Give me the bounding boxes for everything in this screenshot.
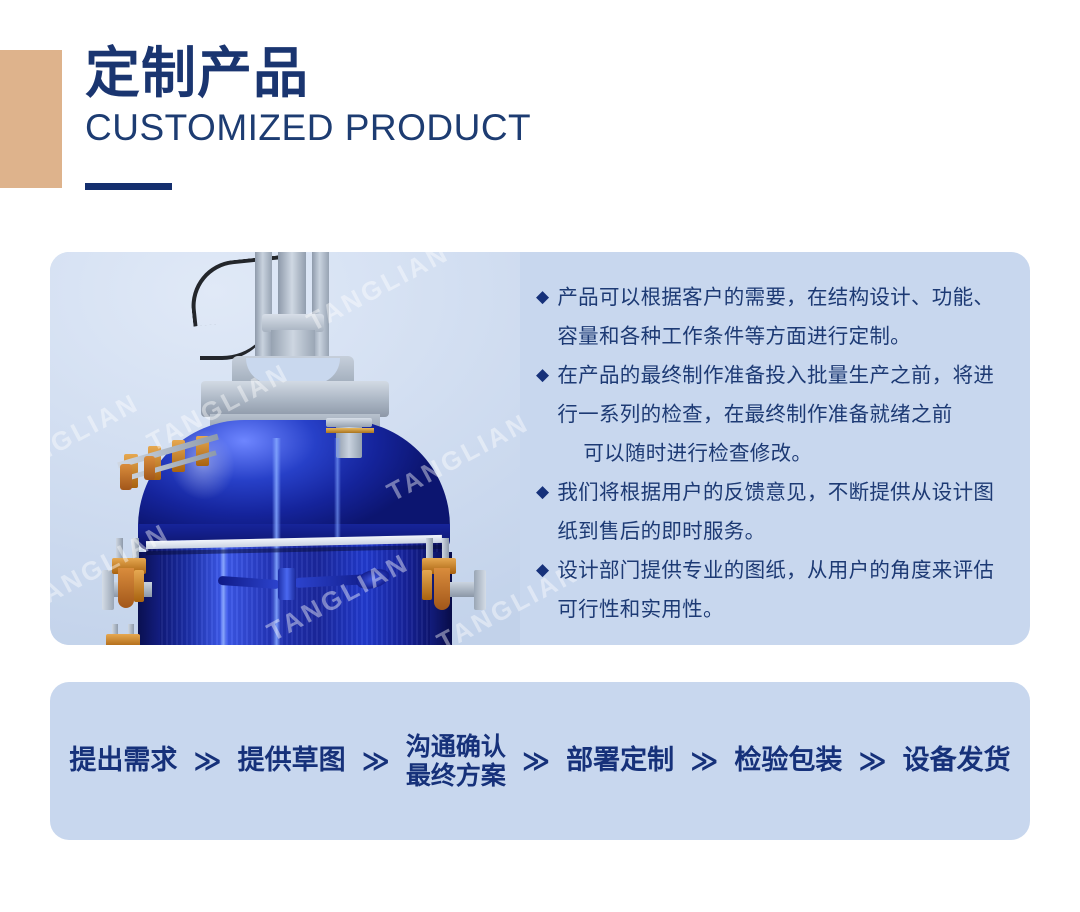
feature-line: 产品可以根据客户的需要，在结构设计、功能、 [557, 278, 1004, 317]
page-title-en: CUSTOMIZED PRODUCT [85, 109, 531, 148]
feature-item: ◆ 我们将根据用户的反馈意见，不断提供从设计图 纸到售后的即时服务。 [536, 473, 1004, 551]
feature-line: 我们将根据用户的反馈意见，不断提供从设计图 [557, 473, 1004, 512]
process-arrow-icon: ≫ [683, 746, 725, 777]
feature-list: ◆ 产品可以根据客户的需要，在结构设计、功能、 容量和各种工作条件等方面进行定制… [520, 252, 1030, 645]
vessel-highlight-3 [334, 438, 341, 538]
process-step-2[interactable]: 提供草图 [229, 745, 355, 777]
clamp-right [416, 538, 470, 612]
support-column-left [255, 252, 272, 370]
process-step-6[interactable]: 设备发货 [894, 745, 1020, 777]
process-arrow-icon: ≫ [355, 746, 397, 777]
feature-item: ◆ 产品可以根据客户的需要，在结构设计、功能、 容量和各种工作条件等方面进行定制… [536, 278, 1004, 356]
bullet-diamond-icon: ◆ [536, 356, 549, 395]
clamp-cluster-top [108, 424, 238, 494]
clamp-left [112, 538, 164, 612]
process-step-1[interactable]: 提出需求 [60, 745, 186, 777]
bullet-diamond-icon: ◆ [536, 278, 549, 317]
process-step-3[interactable]: 沟通确认 最终方案 [397, 732, 515, 791]
process-step-label: 最终方案 [406, 761, 506, 791]
bullet-diamond-icon: ◆ [536, 551, 549, 590]
process-arrow-icon: ≫ [186, 746, 228, 777]
feature-line: 容量和各种工作条件等方面进行定制。 [557, 317, 1004, 356]
bullet-diamond-icon: ◆ [536, 473, 549, 512]
process-step-label: 部署定制 [566, 745, 674, 776]
gearbox-body [271, 330, 315, 356]
process-arrow-icon: ≫ [851, 746, 893, 777]
process-step-label: 沟通确认 [406, 732, 506, 762]
feature-text: 我们将根据用户的反馈意见，不断提供从设计图 纸到售后的即时服务。 [557, 473, 1004, 551]
side-flange-right [474, 570, 486, 610]
feature-line-indented: 可以随时进行检查修改。 [557, 434, 1004, 473]
feature-text: 设计部门提供专业的图纸，从用户的角度来评估 可行性和实用性。 [557, 551, 1004, 629]
dome-nozzle-gasket [326, 428, 374, 433]
process-step-4[interactable]: 部署定制 [557, 745, 683, 777]
main-flange [201, 381, 389, 417]
process-step-label: 提出需求 [69, 745, 177, 776]
process-step-label: 检验包装 [734, 745, 842, 776]
product-image [50, 252, 520, 645]
feature-text: 在产品的最终制作准备投入批量生产之前，将进 行一系列的检查，在最终制作准备就绪之… [557, 356, 1004, 473]
process-steps: 提出需求 ≫ 提供草图 ≫ 沟通确认 最终方案 ≫ 部署定制 ≫ 检验包装 ≫ … [44, 732, 1035, 791]
feature-line: 在产品的最终制作准备投入批量生产之前，将进 [557, 356, 1004, 395]
page-title: 定制产品 CUSTOMIZED PRODUCT [85, 44, 531, 148]
feature-line: 可行性和实用性。 [557, 590, 1004, 629]
feature-text: 产品可以根据客户的需要，在结构设计、功能、 容量和各种工作条件等方面进行定制。 [557, 278, 1004, 356]
feature-item: ◆ 在产品的最终制作准备投入批量生产之前，将进 行一系列的检查，在最终制作准备就… [536, 356, 1004, 473]
process-step-label: 提供草图 [238, 745, 346, 776]
feature-line: 设计部门提供专业的图纸，从用户的角度来评估 [557, 551, 1004, 590]
feature-line: 纸到售后的即时服务。 [557, 512, 1004, 551]
impeller-hub [278, 568, 296, 600]
page-root: 定制产品 CUSTOMIZED PRODUCT [0, 0, 1080, 912]
feature-line: 行一系列的检查，在最终制作准备就绪之前 [557, 395, 1004, 434]
process-arrow-icon: ≫ [515, 746, 557, 777]
header-accent-bar [0, 50, 62, 188]
title-underline [85, 183, 172, 190]
page-title-cn: 定制产品 [85, 44, 531, 103]
drive-shaft [278, 252, 306, 322]
clamp-bottom-left [106, 624, 152, 645]
dome-nozzle-flange [326, 418, 372, 427]
product-info-panel: ◆ 产品可以根据客户的需要，在结构设计、功能、 容量和各种工作条件等方面进行定制… [50, 252, 1030, 645]
process-flow-bar: 提出需求 ≫ 提供草图 ≫ 沟通确认 最终方案 ≫ 部署定制 ≫ 检验包装 ≫ … [50, 682, 1030, 840]
vessel-highlight-1 [220, 540, 227, 645]
feature-item: ◆ 设计部门提供专业的图纸，从用户的角度来评估 可行性和实用性。 [536, 551, 1004, 629]
process-step-label: 设备发货 [903, 745, 1011, 776]
process-step-5[interactable]: 检验包装 [725, 745, 851, 777]
